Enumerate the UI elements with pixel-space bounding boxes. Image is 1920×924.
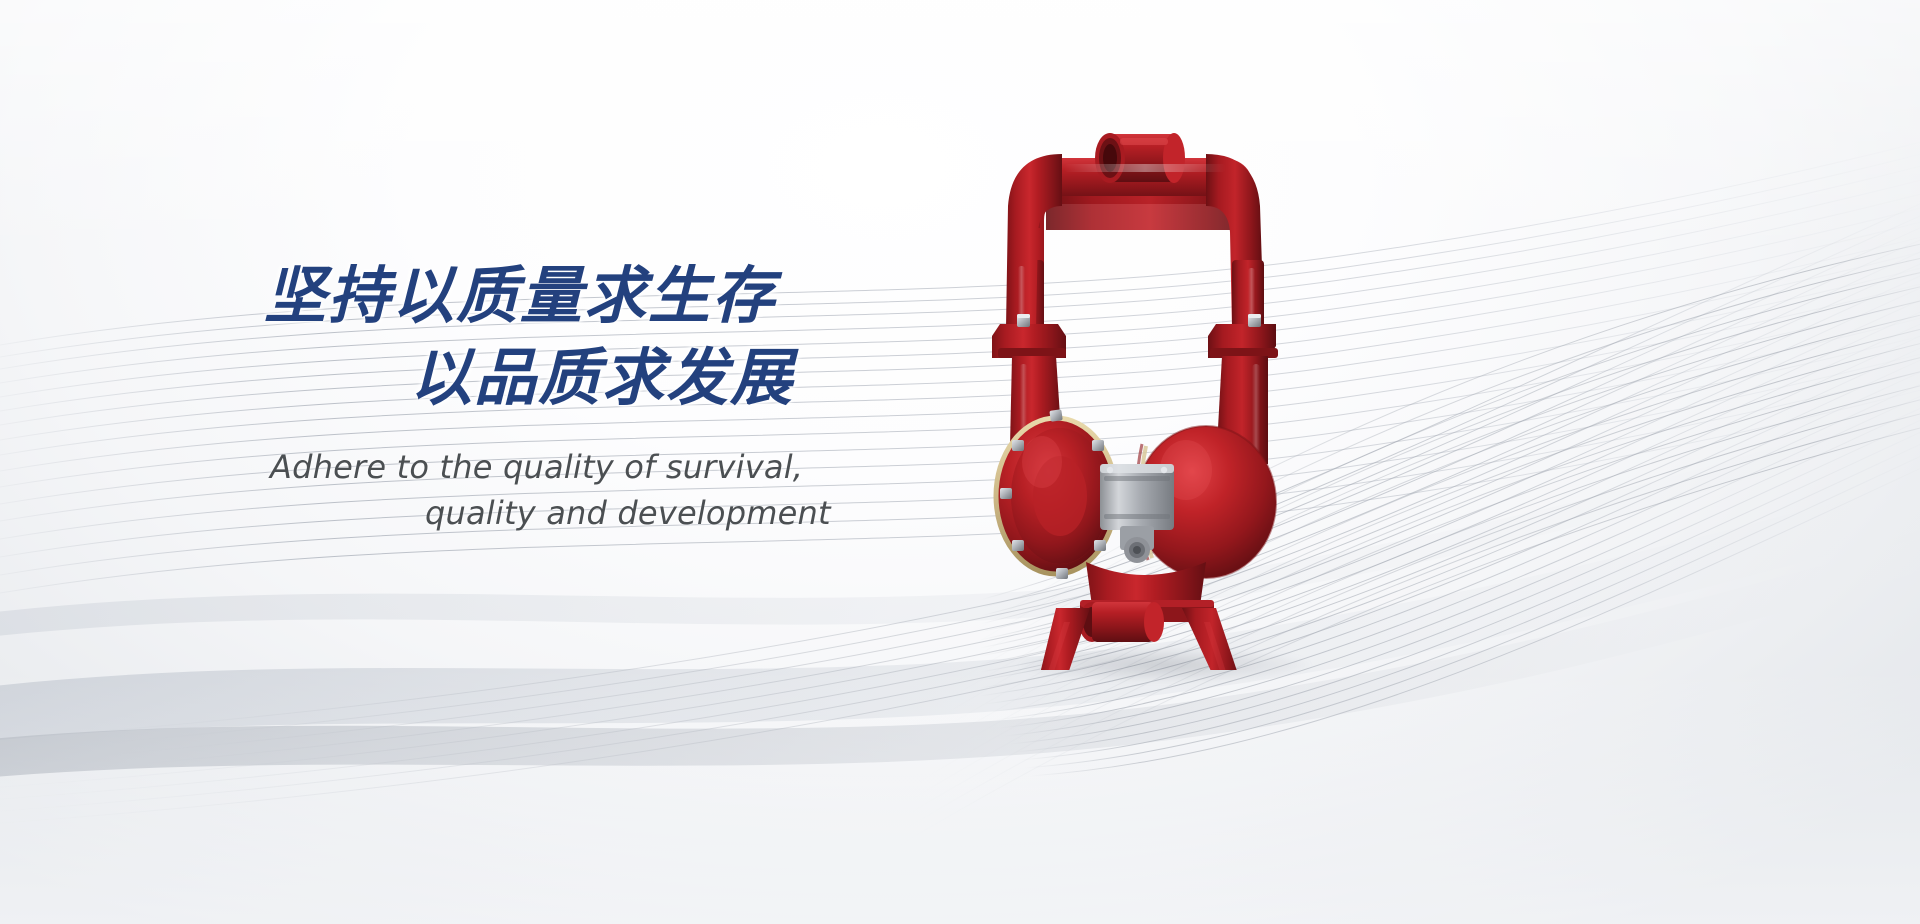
hero-banner: 坚持以质量求生存 以品质求发展 Adhere to the quality of… <box>0 0 1920 924</box>
product-image-diaphragm-pump <box>960 110 1380 670</box>
banner-copy: 坚持以质量求生存 以品质求发展 Adhere to the quality of… <box>250 258 890 536</box>
headline-line-2: 以品质求发展 <box>250 340 890 416</box>
headline-line-1: 坚持以质量求生存 <box>250 258 890 334</box>
subtitle: Adhere to the quality of survival, quali… <box>250 445 890 536</box>
subtitle-line-1: Adhere to the quality of survival, <box>250 445 890 490</box>
subtitle-line-2: quality and development <box>250 491 890 536</box>
